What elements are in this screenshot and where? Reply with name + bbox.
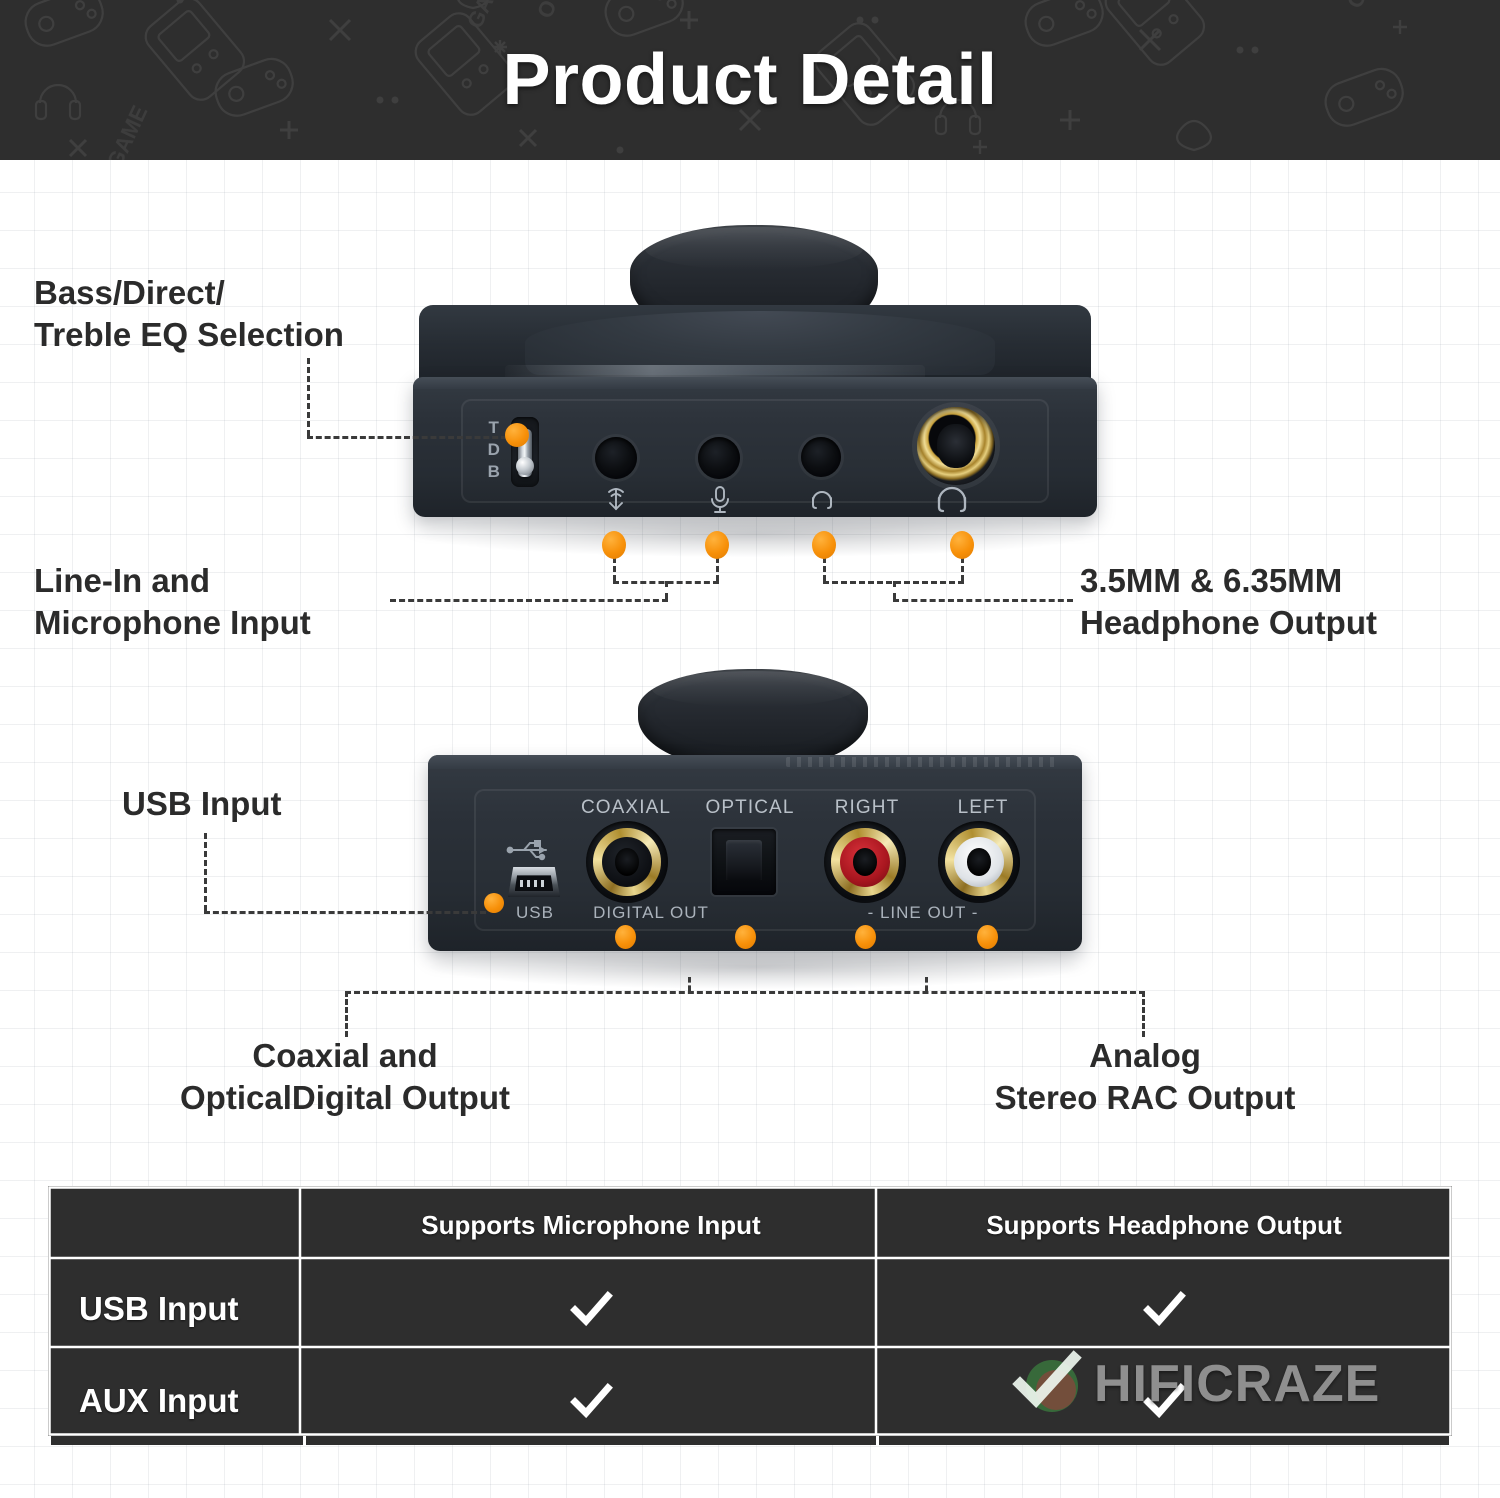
callout-dot-line-out-left: [977, 925, 998, 949]
table-cell-usb-microphone: [306, 1264, 876, 1353]
table-row-label-usb-input: USB Input: [51, 1264, 303, 1353]
callout-dot-headphone-635: [950, 531, 974, 559]
table-header-headphone-output: Supports Headphone Output: [879, 1189, 1449, 1261]
callout-dot-microphone: [705, 531, 729, 559]
leader-eq-horizontal: [307, 436, 507, 439]
microphone-jack[interactable]: [698, 437, 740, 479]
callout-dot-headphone-35: [812, 531, 836, 559]
knob-highlight: [645, 227, 863, 269]
callout-label-usb-input: USB Input: [122, 783, 442, 825]
leader-analog-stem: [925, 977, 928, 991]
callout-label-headphone-output: 3.5MM & 6.35MM Headphone Output: [1080, 560, 1480, 644]
leader-hp35-stem: [823, 557, 826, 581]
support-comparison-table: Supports Microphone Input Supports Headp…: [48, 1186, 1452, 1436]
port-label-left: LEFT: [928, 797, 1038, 819]
callout-dot-line-in: [602, 531, 626, 559]
device-front-view: T D B: [405, 225, 1105, 555]
front-face-top-lip: [413, 377, 1097, 389]
callout-dot-usb: [484, 893, 504, 913]
mini-usb-port[interactable]: [508, 867, 560, 897]
page-title: Product Detail: [0, 0, 1500, 160]
line-out-right-port[interactable]: [824, 821, 906, 903]
leader-linein-run: [390, 599, 668, 602]
table-cell-aux-microphone: [306, 1356, 876, 1445]
mini-usb-pins: [520, 880, 547, 887]
table-header-microphone-input: Supports Microphone Input: [306, 1189, 876, 1261]
coaxial-output-port[interactable]: [586, 821, 668, 903]
headphone-large-icon: [931, 481, 973, 515]
leader-digital-stem: [688, 977, 691, 991]
callout-dot-line-out-right: [855, 925, 876, 949]
line-in-jack[interactable]: [595, 437, 637, 479]
callout-label-eq-selection: Bass/Direct/ Treble EQ Selection: [34, 272, 434, 356]
leader-digital-drop: [345, 991, 348, 1037]
headphone-small-icon: [807, 484, 837, 512]
leader-usb-horizontal: [204, 911, 486, 914]
leader-linein-stem-a: [613, 557, 616, 581]
front-device-shadow: [415, 511, 1095, 557]
left-pin-hole: [967, 848, 992, 876]
right-pin-hole: [853, 848, 878, 876]
checkmark-icon: [569, 1379, 613, 1423]
line-out-left-port[interactable]: [938, 821, 1020, 903]
rear-volume-knob[interactable]: [638, 669, 868, 769]
leader-linein-drop: [665, 581, 668, 599]
port-label-optical: OPTICAL: [690, 797, 810, 819]
leader-analog-drop: [1142, 991, 1145, 1037]
callout-label-line-in-mic: Line-In and Microphone Input: [34, 560, 414, 644]
rear-device-shadow: [430, 945, 1080, 989]
rear-vent-strip: [786, 757, 1056, 767]
leader-eq-vertical: [307, 358, 310, 436]
product-detail-infographic: GAME OVER OVER GAME Product Detail T D B: [0, 0, 1500, 1498]
table-cell-usb-headphone: [879, 1264, 1449, 1353]
headphone-35mm-jack[interactable]: [801, 437, 841, 477]
line-out-label: - LINE OUT -: [828, 903, 1018, 923]
table-row-label-aux-input: AUX Input: [51, 1356, 303, 1445]
checkmark-icon: [1142, 1379, 1186, 1423]
eq-switch-labels: T D B: [483, 417, 505, 482]
coaxial-pin-hole: [615, 848, 640, 876]
usb-label: USB: [494, 903, 576, 923]
callout-label-analog-output: Analog Stereo RAC Output: [860, 1035, 1430, 1119]
digital-out-label: DIGITAL OUT: [566, 903, 736, 923]
headphone-635mm-core: [937, 424, 974, 468]
callout-dot-coaxial: [615, 925, 636, 949]
microphone-icon: [705, 483, 735, 515]
callout-dot-eq-switch: [505, 423, 529, 447]
leader-hp-run: [893, 599, 1073, 602]
callout-dot-optical: [735, 925, 756, 949]
header-banner: GAME OVER OVER GAME Product Detail: [0, 0, 1500, 160]
headphone-635mm-jack[interactable]: [917, 407, 995, 485]
table-cell-aux-headphone: [879, 1356, 1449, 1445]
rear-knob-highlight: [652, 671, 854, 707]
leader-usb-vertical: [204, 833, 207, 911]
usb-trident-icon: [504, 837, 556, 863]
eq-toggle-ball: [516, 457, 534, 475]
checkmark-icon: [569, 1287, 613, 1331]
port-label-right: RIGHT: [812, 797, 922, 819]
table-corner-cell: [51, 1189, 303, 1261]
line-in-icon: [600, 483, 632, 515]
checkmark-icon: [1142, 1287, 1186, 1331]
leader-hp-drop: [893, 581, 896, 599]
callout-label-digital-output: Coaxial and OpticalDigital Output: [30, 1035, 660, 1119]
leader-bottom-rail: [345, 991, 1145, 994]
leader-mic-stem-b: [716, 557, 719, 581]
optical-output-port[interactable]: [712, 829, 776, 895]
leader-hp635-stem: [961, 557, 964, 581]
port-label-coaxial: COAXIAL: [566, 797, 686, 819]
optical-shutter: [726, 840, 762, 881]
